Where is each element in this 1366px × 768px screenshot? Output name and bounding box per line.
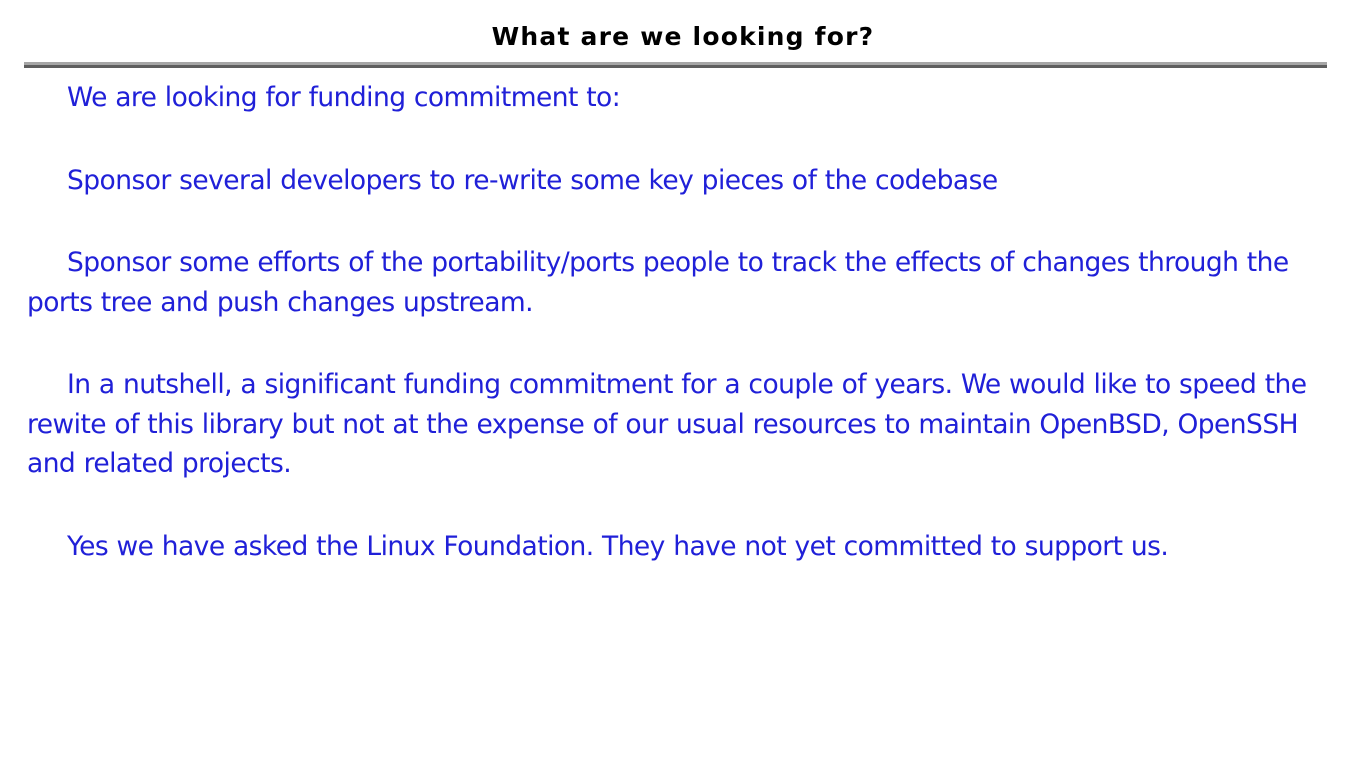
title-divider — [24, 62, 1327, 68]
paragraph-sponsor-developers: Sponsor several developers to re-write s… — [27, 161, 1339, 201]
paragraph-sponsor-portability: Sponsor some efforts of the portability/… — [27, 243, 1339, 322]
paragraph-spacer — [27, 118, 1339, 161]
paragraph-spacer — [27, 200, 1339, 243]
paragraph-spacer — [27, 322, 1339, 365]
presentation-slide: What are we looking for? We are looking … — [0, 0, 1366, 768]
slide-body: We are looking for funding commitment to… — [27, 78, 1339, 566]
divider-shadow-band — [24, 65, 1327, 68]
paragraph-nutshell: In a nutshell, a significant funding com… — [27, 365, 1339, 484]
paragraph-spacer — [27, 484, 1339, 527]
page-title: What are we looking for? — [0, 22, 1366, 52]
paragraph-linux-foundation: Yes we have asked the Linux Foundation. … — [27, 527, 1339, 567]
paragraph-intro: We are looking for funding commitment to… — [27, 78, 1339, 118]
